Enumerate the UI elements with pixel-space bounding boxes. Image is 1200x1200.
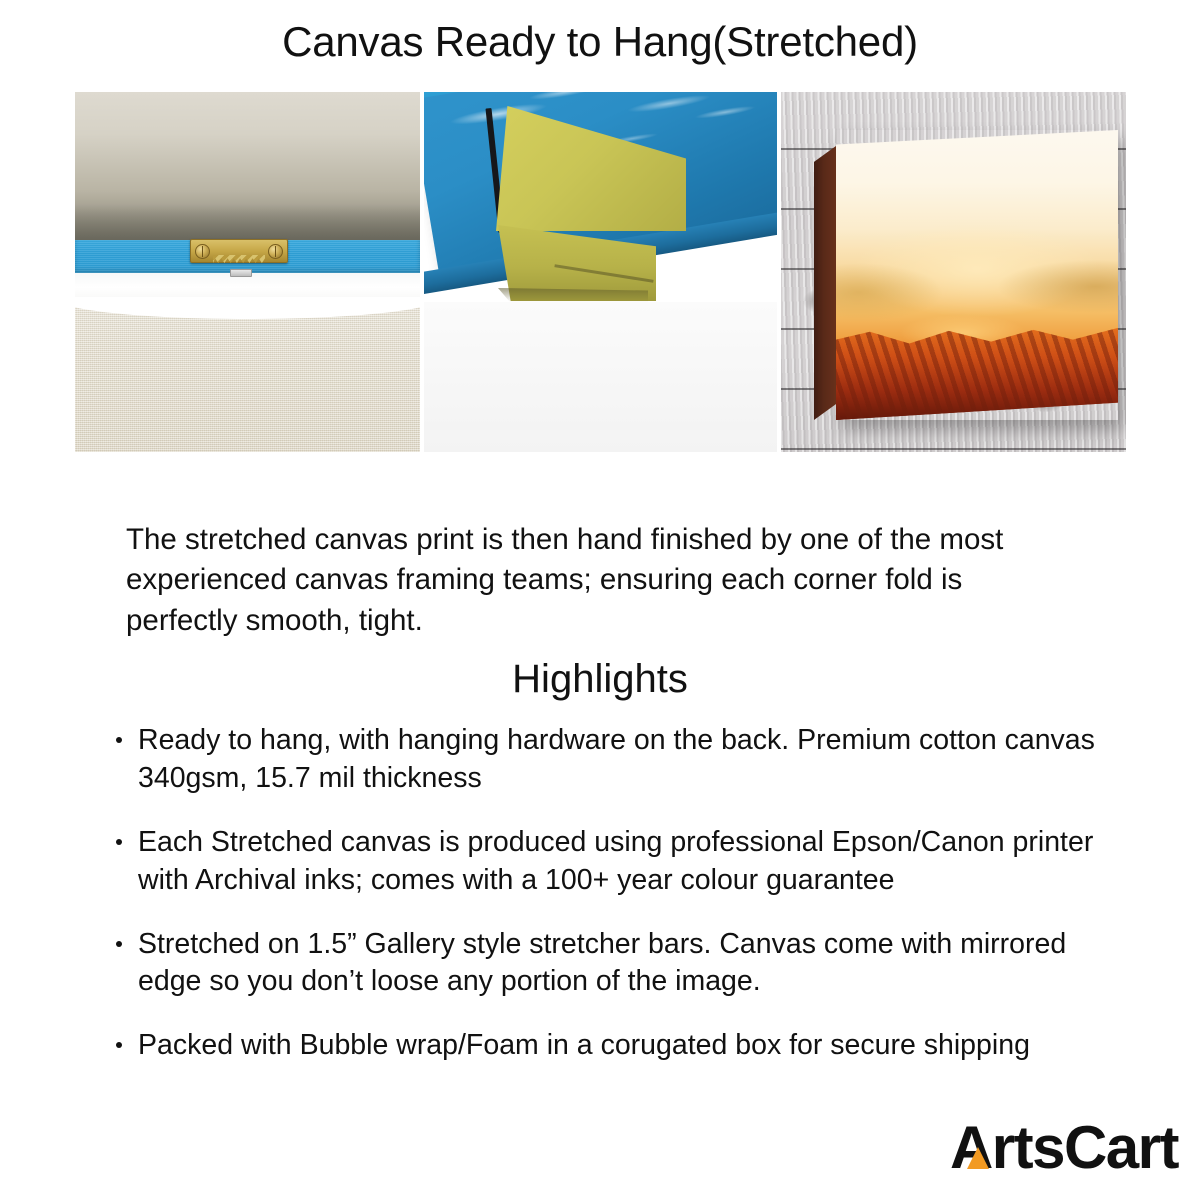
highlights-list: Ready to hang, with hanging hardware on …: [112, 722, 1122, 1091]
artscart-logo: ArtsCart: [950, 1118, 1178, 1178]
photo1-metal-tab: [230, 269, 252, 277]
hanger-screw-left-icon: [195, 244, 210, 259]
canvas-back-hanger-photo: [75, 92, 420, 452]
list-item: Stretched on 1.5” Gallery style stretche…: [112, 926, 1122, 1002]
orange-triangle-icon: [967, 1147, 989, 1169]
photo3-hanging-canvas: [836, 130, 1118, 420]
logo-wordmark: ArtsCart: [950, 1118, 1178, 1178]
photo3-canvas-side-edge: [814, 130, 838, 420]
list-item: Each Stretched canvas is produced using …: [112, 824, 1122, 900]
hanger-teeth: [213, 255, 265, 263]
photo2-white-table: [424, 302, 777, 452]
canvas-on-wood-wall-photo: [781, 92, 1126, 452]
hanger-screw-right-icon: [268, 244, 283, 259]
list-item: Ready to hang, with hanging hardware on …: [112, 722, 1122, 798]
product-description: The stretched canvas print is then hand …: [126, 520, 1072, 642]
photo3-canvas-print-face: [836, 130, 1118, 420]
page-title: Canvas Ready to Hang(Stretched): [0, 0, 1200, 64]
photo1-wall-shadow: [75, 92, 420, 252]
product-photo-strip: [75, 92, 1126, 452]
sawtooth-hanger-icon: [190, 239, 288, 263]
list-item: Packed with Bubble wrap/Foam in a coruga…: [112, 1027, 1122, 1065]
canvas-corner-fold-photo: [424, 92, 777, 452]
highlights-heading: Highlights: [0, 657, 1200, 702]
photo1-raw-canvas-back: [75, 305, 420, 452]
